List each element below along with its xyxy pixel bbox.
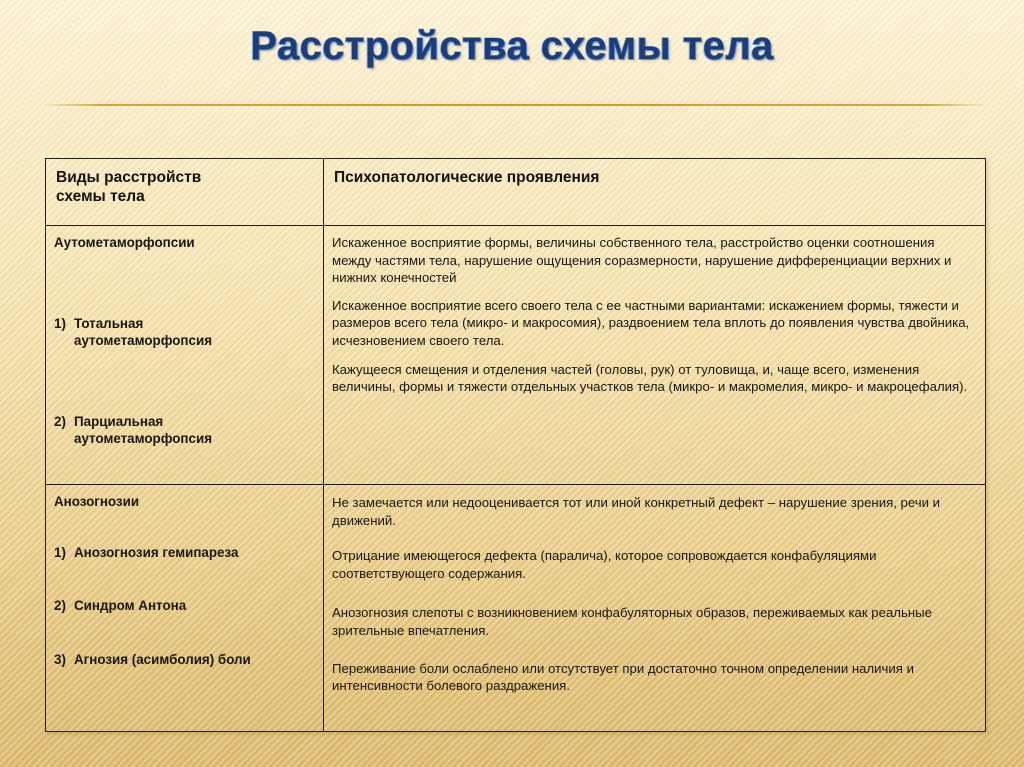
- table-row: Анозогнозии 1)Анозогнозия гемипареза 2)С…: [46, 485, 986, 732]
- item-number: 2): [54, 597, 74, 615]
- title-divider-rule: [44, 104, 984, 106]
- item-description: Искаженное восприятие всего своего тела …: [324, 287, 985, 350]
- page-title: Расстройства схемы тела: [250, 22, 773, 70]
- group-label-autometamorphopsies: Аутометаморфопсии: [46, 226, 323, 252]
- header-manifestations-text: Психопатологические проявления: [324, 159, 985, 187]
- list-item: 2)Синдром Антона: [46, 561, 323, 615]
- item-label-line1: Тотальная: [74, 316, 143, 331]
- terms-stack-autometamorphopsies: Аутометаморфопсии 1)Тотальная аутометамо…: [46, 226, 323, 448]
- list-item: 1)Анозогнозия гемипареза: [46, 511, 323, 562]
- item-label-line1: Синдром Антона: [74, 598, 186, 613]
- item-description: Анозогнозия слепоты с возникновением кон…: [324, 582, 985, 639]
- table-header-row: Виды расстройств схемы тела Психопатолог…: [46, 159, 986, 226]
- header-types-line2: схемы тела: [56, 187, 323, 206]
- item-label-line2: аутометаморфопсия: [54, 332, 323, 350]
- item-label-line1: Агнозия (асимболия) боли: [74, 652, 251, 667]
- header-types-text: Виды расстройств схемы тела: [46, 159, 323, 206]
- section-autometamorphopsies-descriptions-cell: Искаженное восприятие формы, величины со…: [324, 226, 986, 485]
- group-label-anosognosias: Анозогнозии: [46, 485, 323, 511]
- item-number: 2): [54, 413, 74, 431]
- item-number: 1): [54, 544, 74, 562]
- section-anosognosias-terms-cell: Анозогнозии 1)Анозогнозия гемипареза 2)С…: [46, 485, 324, 732]
- header-types-line1: Виды расстройств: [56, 168, 323, 187]
- table-header-cell-types: Виды расстройств схемы тела: [46, 159, 324, 226]
- list-item: 2)Парциальная аутометаморфопсия: [46, 350, 323, 448]
- item-description: Переживание боли ослаблено или отсутству…: [324, 640, 985, 695]
- item-description: Отрицание имеющегося дефекта (паралича),…: [324, 529, 985, 582]
- group-description-autometamorphopsies: Искаженное восприятие формы, величины со…: [324, 226, 985, 287]
- item-label-line2: аутометаморфопсия: [54, 430, 323, 448]
- list-item: 3)Агнозия (асимболия) боли: [46, 615, 323, 669]
- table-header-cell-manifestations: Психопатологические проявления: [324, 159, 986, 226]
- table-row: Аутометаморфопсии 1)Тотальная аутометамо…: [46, 226, 986, 485]
- body-schema-disorders-table: Виды расстройств схемы тела Психопатолог…: [45, 158, 986, 732]
- terms-stack-anosognosias: Анозогнозии 1)Анозогнозия гемипареза 2)С…: [46, 485, 323, 668]
- section-anosognosias-descriptions-cell: Не замечается или недооценивается тот ил…: [324, 485, 986, 732]
- group-description-anosognosias: Не замечается или недооценивается тот ил…: [324, 485, 985, 529]
- list-item: 1)Тотальная аутометаморфопсия: [46, 252, 323, 350]
- descriptions-stack-autometamorphopsies: Искаженное восприятие формы, величины со…: [324, 226, 985, 396]
- item-description: Кажущееся смещения и отделения частей (г…: [324, 350, 985, 396]
- item-label-line1: Парциальная: [74, 414, 163, 429]
- descriptions-stack-anosognosias: Не замечается или недооценивается тот ил…: [324, 485, 985, 695]
- item-label-line1: Анозогнозия гемипареза: [74, 545, 238, 560]
- item-number: 1): [54, 315, 74, 333]
- slide-canvas: Расстройства схемы тела Виды расстройств…: [0, 0, 1024, 767]
- title-block: Расстройства схемы тела: [0, 22, 1024, 70]
- section-autometamorphopsies-terms-cell: Аутометаморфопсии 1)Тотальная аутометамо…: [46, 226, 324, 485]
- item-number: 3): [54, 651, 74, 669]
